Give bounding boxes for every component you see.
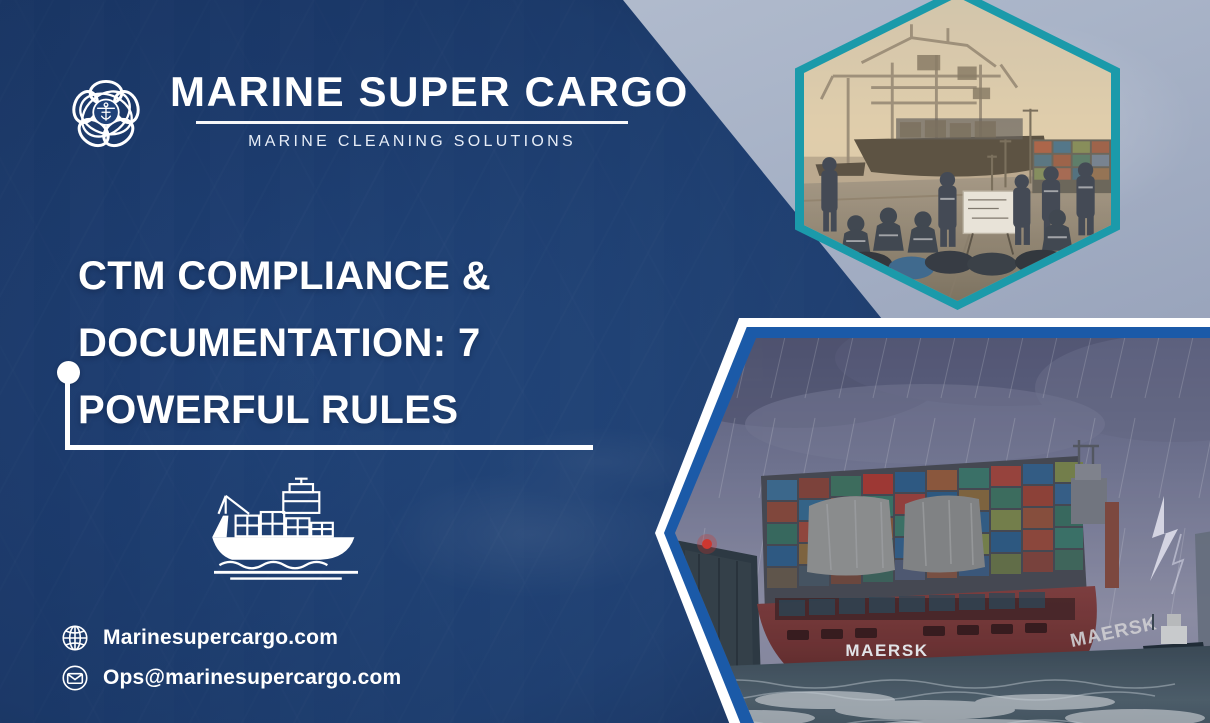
headline-line-2: DOCUMENTATION: 7 [78,310,618,377]
accent-horizontal-line [65,445,593,450]
headline-line-3: POWERFUL RULES [78,377,618,444]
brand-logo-text: MARINE SUPER CARGO MARINE CLEANING SOLUT… [170,66,670,151]
contact-info: Marinesupercargo.com Ops@marinesupercarg… [60,618,500,698]
contact-website[interactable]: Marinesupercargo.com [60,618,500,658]
marketing-banner: MARINE SUPER CARGO MARINE CLEANING SOLUT… [0,0,1210,723]
envelope-icon [60,663,90,693]
contact-email-label: Ops@marinesupercargo.com [103,666,401,690]
globe-icon [60,623,90,653]
maersk-storm-hexagon-photo: MAERSK SANTA CLARA MAERSK [655,318,1210,723]
brand-name: MARINE SUPER CARGO [170,66,670,118]
contact-email[interactable]: Ops@marinesupercargo.com [60,658,500,698]
accent-vertical-line [65,380,70,450]
port-crew-hexagon-photo [795,0,1120,310]
cargo-ship-line-art-icon [196,475,376,585]
hexagon-photo-inner: MAERSK SANTA CLARA MAERSK [675,338,1210,723]
brand-tagline: MARINE CLEANING SOLUTIONS [196,133,628,151]
brand-divider [196,121,628,124]
rope-knot-anchor-badge-icon [62,70,150,158]
page-title: CTM COMPLIANCE & DOCUMENTATION: 7 POWERF… [78,243,618,444]
headline-line-1: CTM COMPLIANCE & [78,243,618,310]
brand-logo: MARINE SUPER CARGO MARINE CLEANING SOLUT… [62,66,622,166]
contact-website-label: Marinesupercargo.com [103,626,338,650]
